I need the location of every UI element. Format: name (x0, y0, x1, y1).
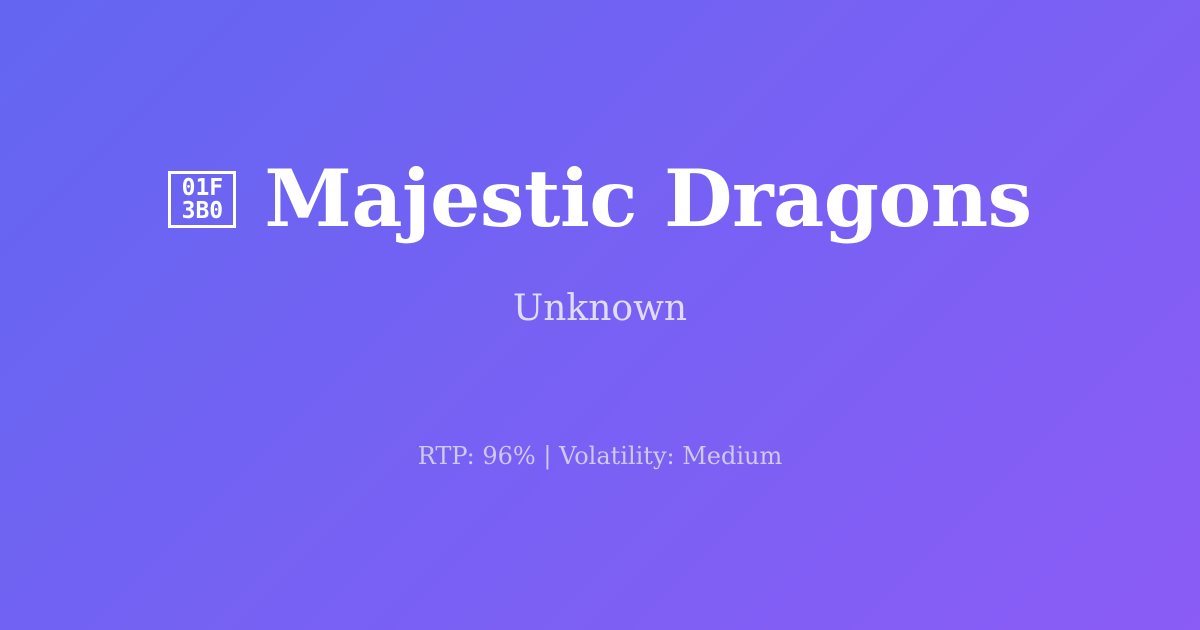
slot-machine-icon: 01F 3B0 (168, 171, 236, 228)
page-title: 01F 3B0 Majestic Dragons (128, 159, 1071, 238)
og-card: 01F 3B0 Majestic Dragons Unknown RTP: 96… (0, 0, 1200, 630)
game-stats-line: RTP: 96% | Volatility: Medium (418, 442, 783, 471)
provider-subtitle: Unknown (513, 287, 687, 330)
slot-machine-icon-codepoint-low: 3B0 (182, 200, 224, 223)
slot-machine-icon-codepoint-high: 01F (182, 177, 224, 200)
page-title-text: Majestic Dragons (264, 159, 1031, 238)
